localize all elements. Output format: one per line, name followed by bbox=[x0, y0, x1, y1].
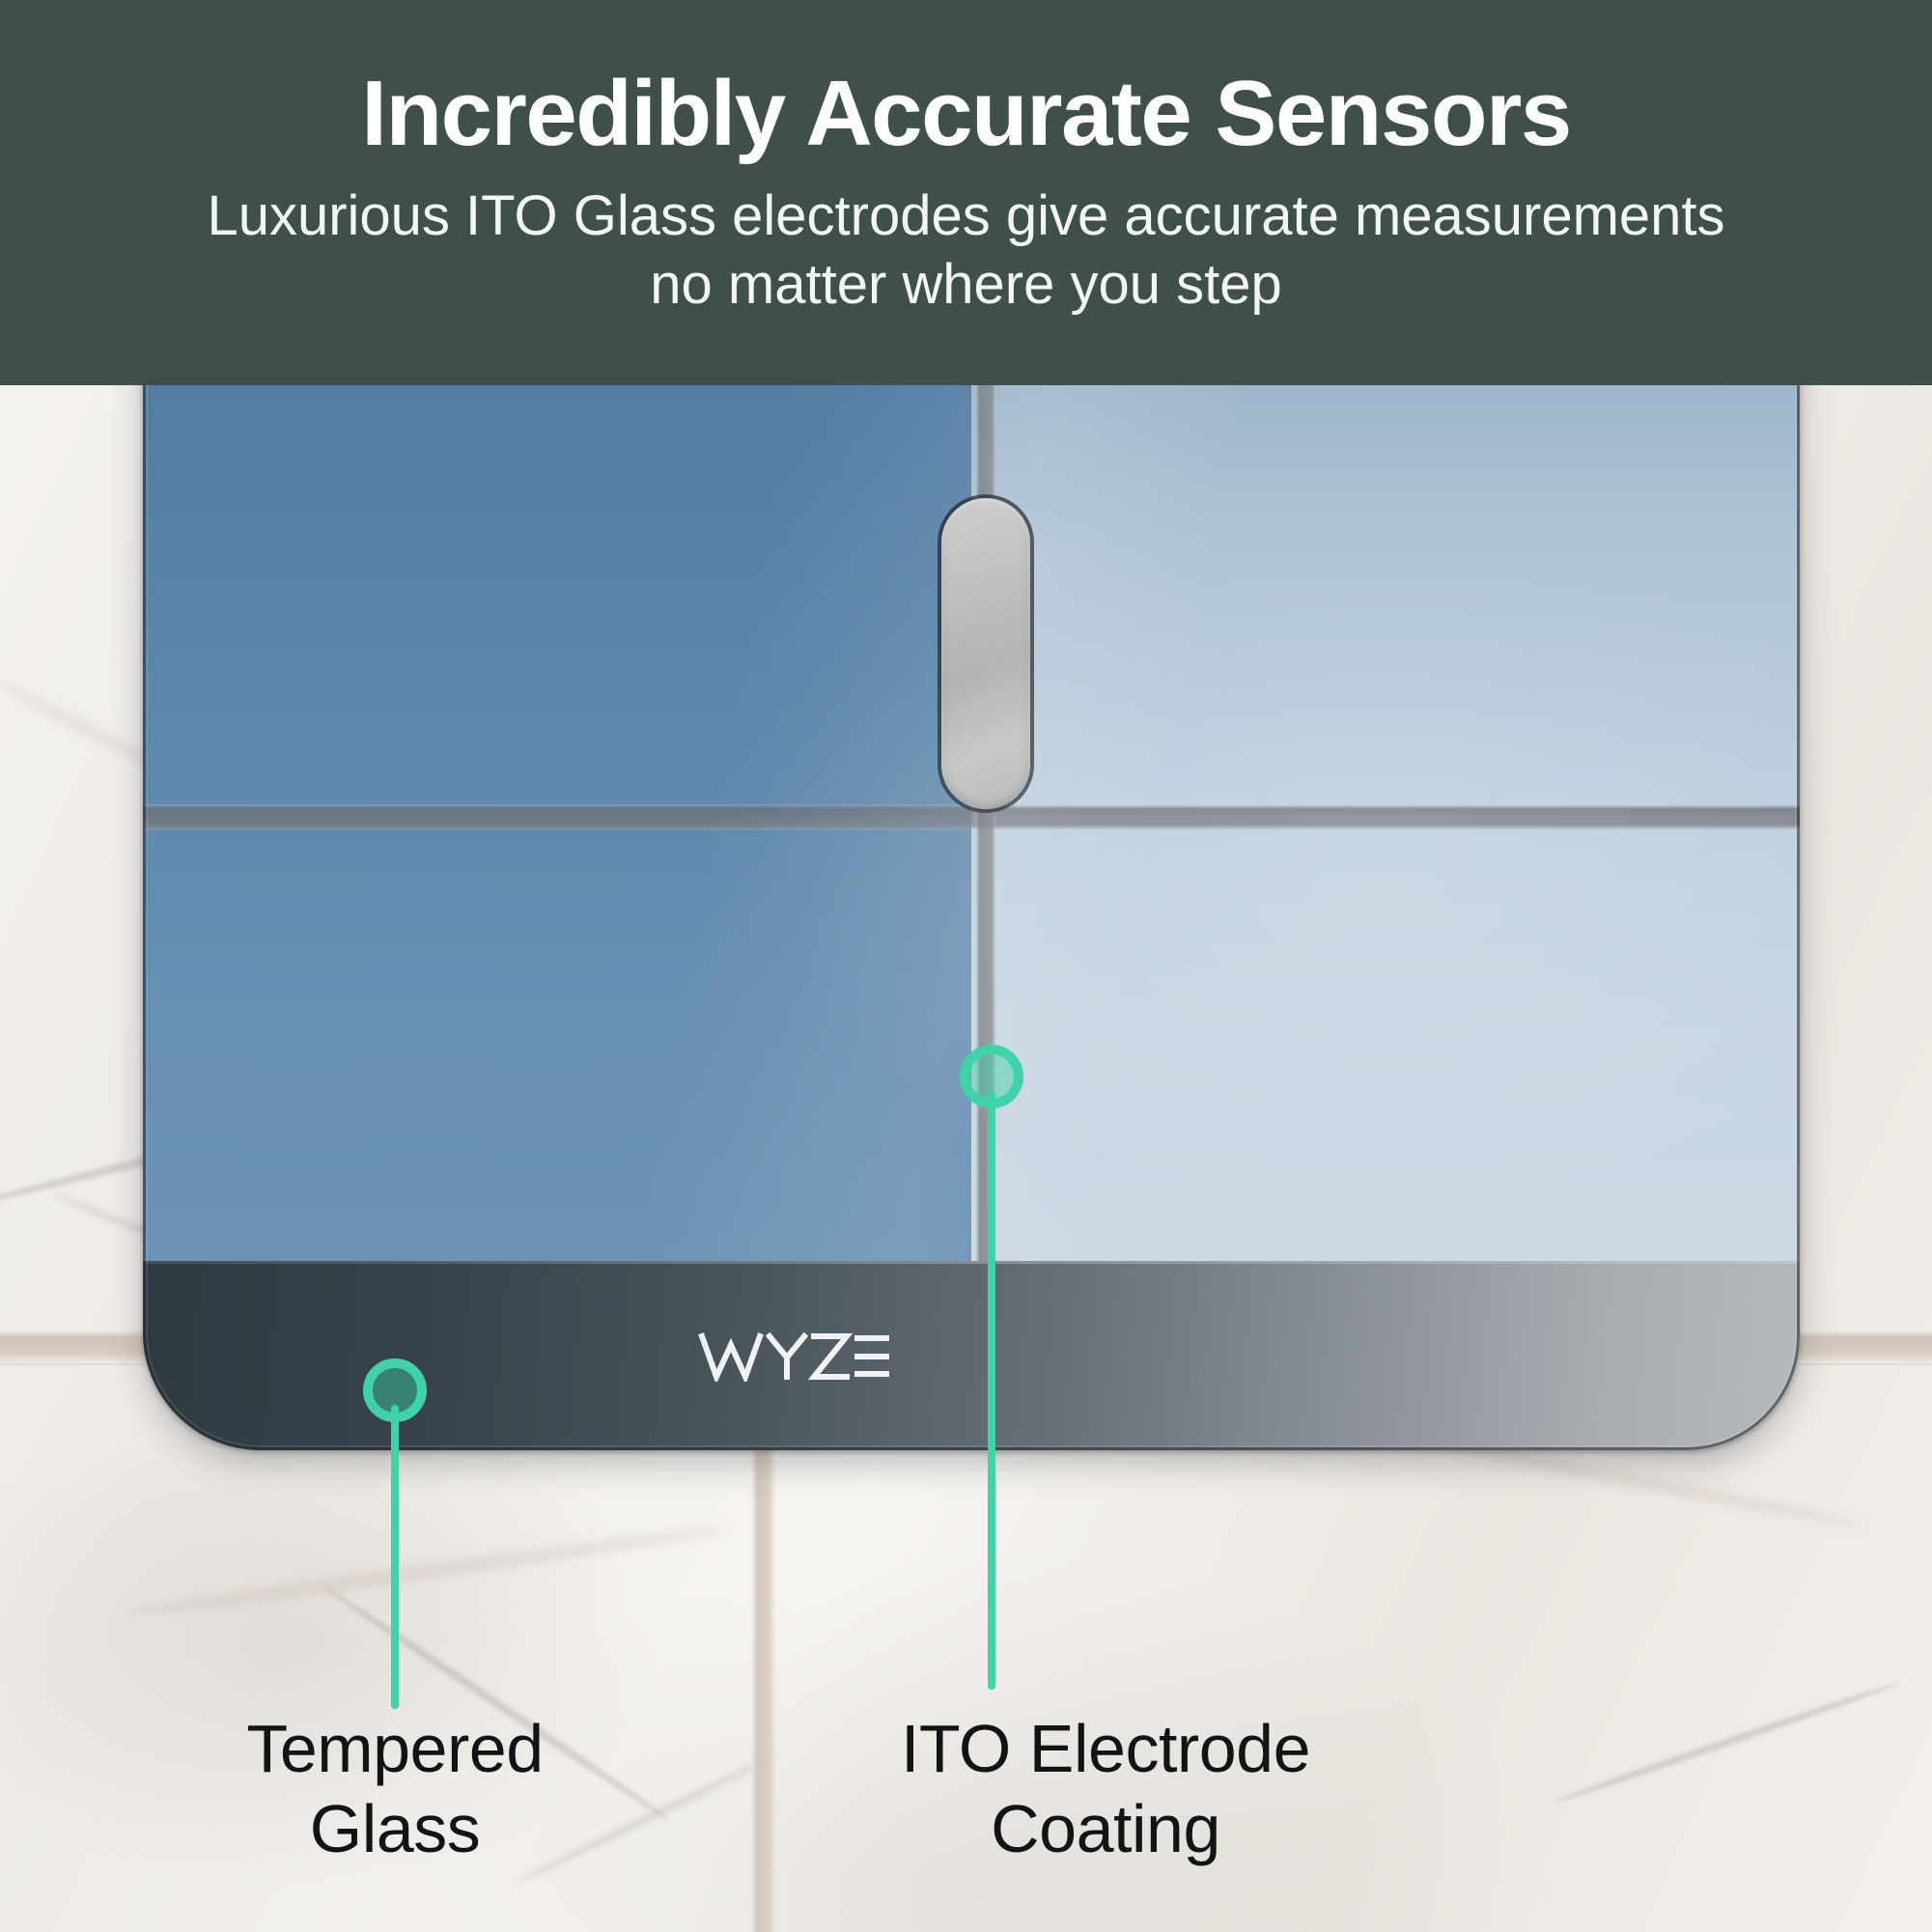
scale-display-panel bbox=[941, 498, 1030, 809]
electrode-divider-horizontal bbox=[143, 804, 1800, 830]
callout-label-tempered-glass: Tempered Glass bbox=[125, 1709, 665, 1868]
callout-label-ito-electrode: ITO Electrode Coating bbox=[734, 1709, 1477, 1868]
callout-leader-line-ito-electrode bbox=[988, 1091, 995, 1690]
callout-marker-tempered-glass[interactable] bbox=[363, 1358, 427, 1422]
product-feature-image: Tempered Glass ITO Electrode Coating Inc… bbox=[0, 0, 1932, 1932]
marble-vein bbox=[118, 1522, 732, 1623]
callout-label-line1: Tempered bbox=[125, 1709, 665, 1789]
callout-label-line2: Glass bbox=[125, 1789, 665, 1869]
callout-label-line1: ITO Electrode bbox=[734, 1709, 1477, 1789]
banner-title: Incredibly Accurate Sensors bbox=[361, 66, 1570, 162]
callout-marker-ito-electrode[interactable] bbox=[960, 1045, 1023, 1108]
banner-subtitle: Luxurious ITO Glass electrodes give accu… bbox=[207, 182, 1724, 321]
wyze-logo bbox=[698, 1330, 891, 1383]
header-banner: Incredibly Accurate Sensors Luxurious IT… bbox=[0, 0, 1932, 385]
callout-label-line2: Coating bbox=[734, 1789, 1477, 1869]
banner-subtitle-line2: no matter where you step bbox=[650, 253, 1281, 316]
callout-leader-line-tempered-glass bbox=[391, 1405, 399, 1709]
marble-vein bbox=[1554, 1678, 1903, 1805]
banner-subtitle-line1: Luxurious ITO Glass electrodes give accu… bbox=[207, 184, 1724, 247]
bezel-highlight-edge bbox=[143, 1261, 1800, 1264]
